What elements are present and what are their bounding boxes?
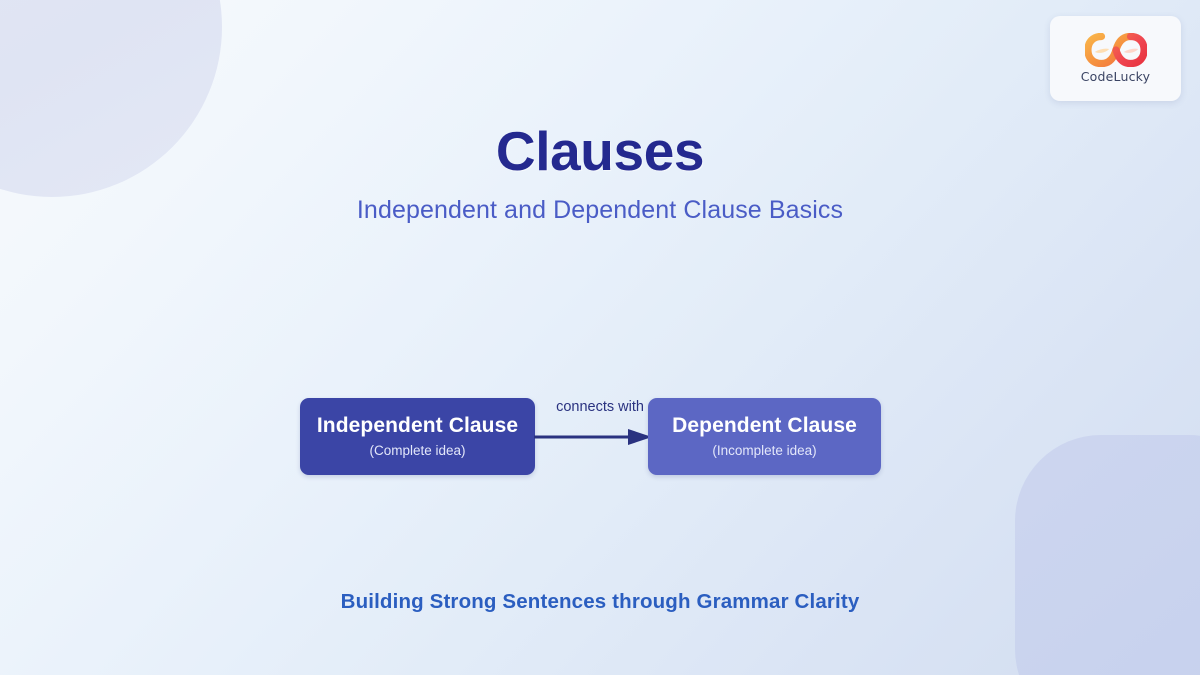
page-title: Clauses	[0, 123, 1200, 181]
node-independent-sublabel: (Complete idea)	[369, 444, 465, 459]
footer-tagline: Building Strong Sentences through Gramma…	[0, 590, 1200, 614]
node-dependent-label: Dependent Clause	[672, 414, 857, 437]
page-subtitle: Independent and Dependent Clause Basics	[0, 196, 1200, 225]
brand-name: CodeLucky	[1081, 69, 1151, 84]
node-independent-label: Independent Clause	[317, 414, 518, 437]
clause-diagram: Independent Clause (Complete idea) conne…	[0, 380, 1200, 490]
infinity-loop-icon	[1085, 33, 1147, 67]
node-dependent-clause[interactable]: Dependent Clause (Incomplete idea)	[648, 398, 881, 475]
brand-logo-card[interactable]: CodeLucky	[1050, 16, 1181, 101]
slide-canvas: CodeLucky Clauses Independent and Depend…	[0, 0, 1200, 675]
node-dependent-sublabel: (Incomplete idea)	[712, 444, 816, 459]
node-independent-clause[interactable]: Independent Clause (Complete idea)	[300, 398, 535, 475]
